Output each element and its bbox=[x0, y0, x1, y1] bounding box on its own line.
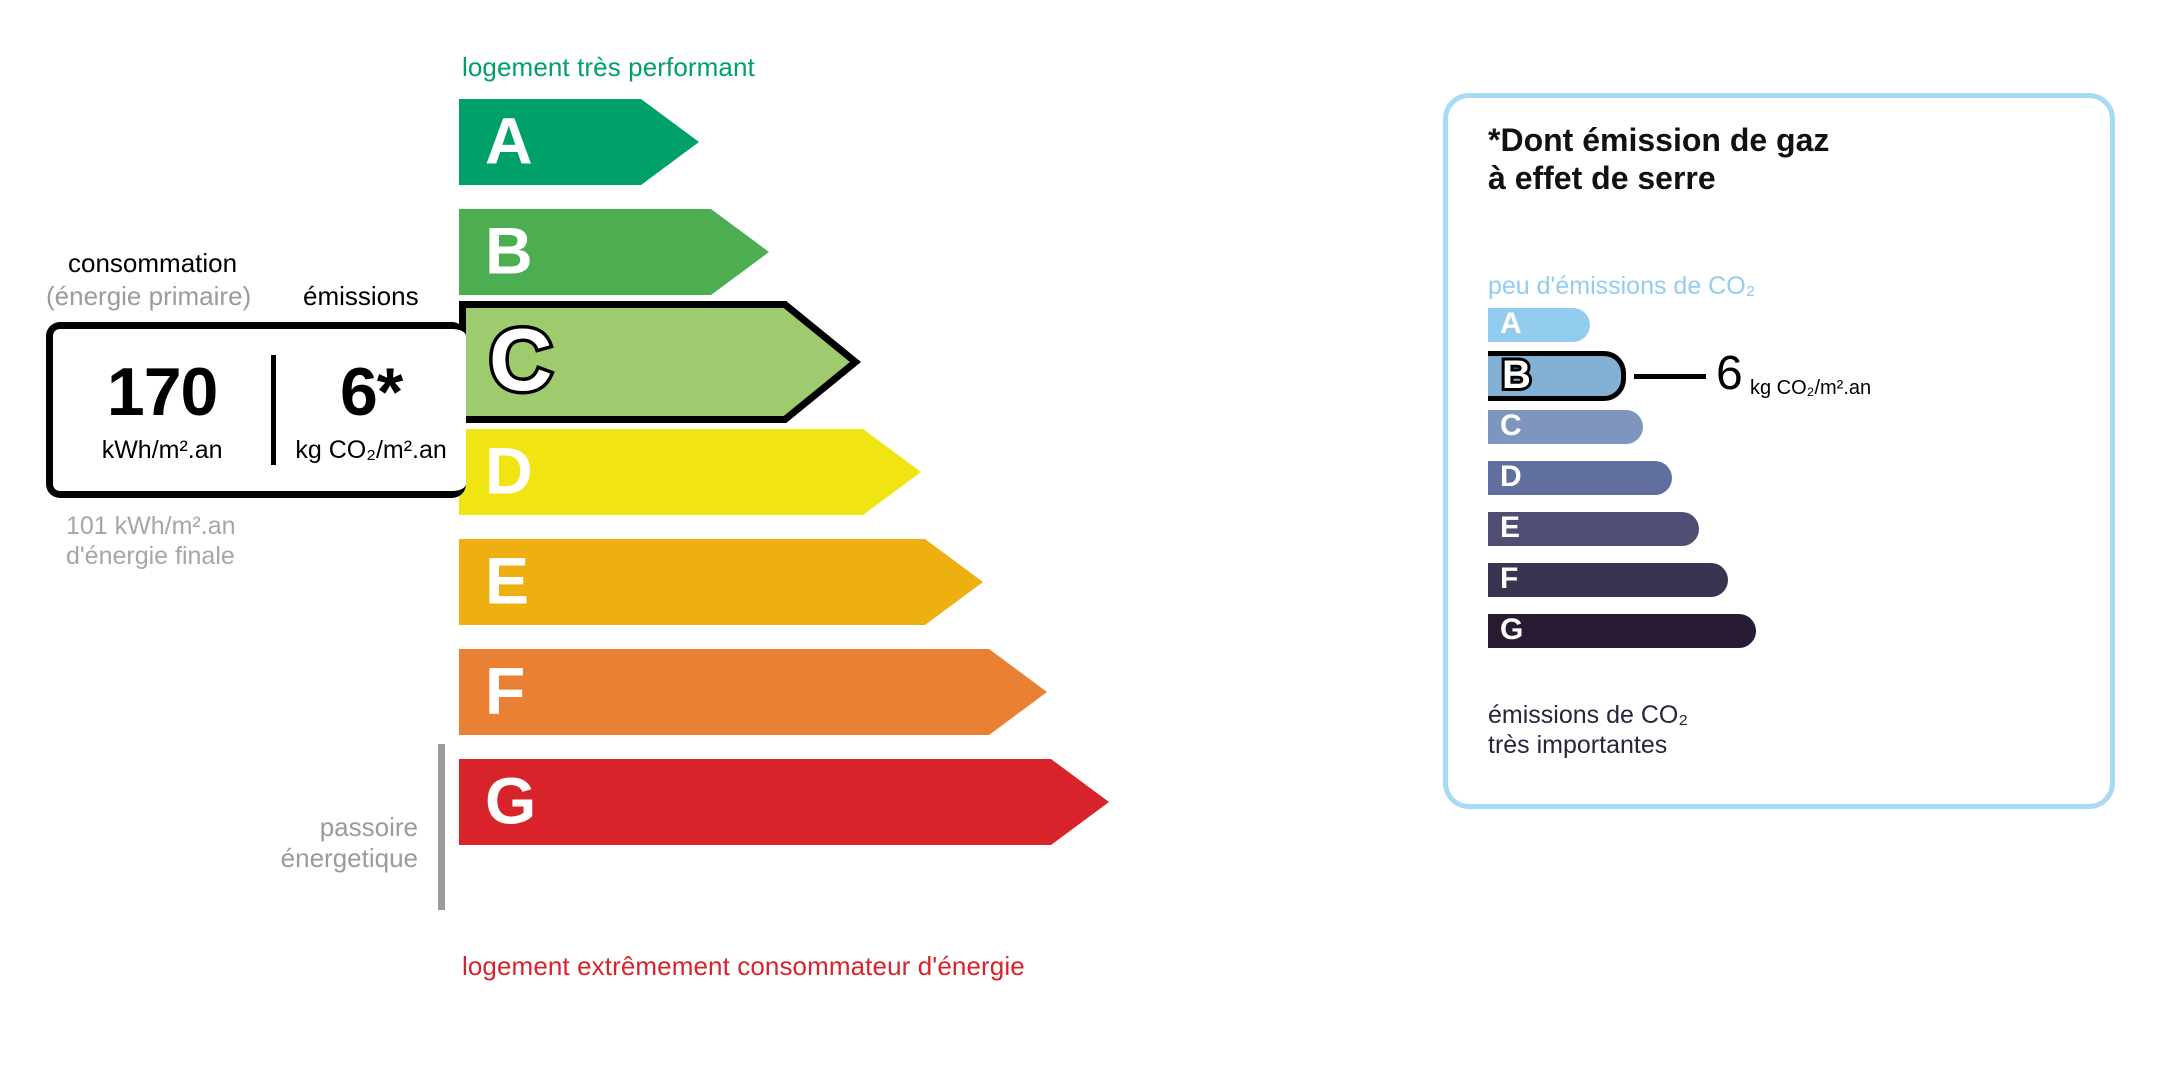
passoire-label: passoire énergetique bbox=[190, 812, 418, 874]
emission-unit: kg CO₂/m².an bbox=[276, 438, 466, 463]
consumption-sublabel: (énergie primaire) bbox=[46, 281, 251, 312]
co2-bar-shape-c bbox=[1488, 410, 1643, 444]
primary-energy-cell: 170 kWh/m².an bbox=[53, 358, 271, 463]
co2-bar-shape-a bbox=[1488, 308, 1590, 342]
primary-energy-unit: kWh/m².an bbox=[53, 438, 271, 463]
co2-bottom-caption: émissions de CO₂ très importantes bbox=[1488, 700, 1688, 760]
consumption-label: consommation bbox=[68, 248, 237, 279]
co2-bar-shape-b bbox=[1488, 351, 1626, 401]
co2-top-caption: peu d'émissions de CO₂ bbox=[1488, 272, 1755, 301]
co2-grade-d: D bbox=[1488, 461, 1672, 495]
energy-arrow-shape-e bbox=[459, 539, 983, 625]
energy-arrow-shape-a bbox=[459, 99, 699, 185]
co2-callout-unit: kg CO₂/m².an bbox=[1750, 378, 1871, 398]
emission-value-cell: 6* kg CO₂/m².an bbox=[276, 358, 466, 463]
energy-grade-g: G bbox=[459, 759, 1109, 845]
co2-grade-g: G bbox=[1488, 614, 1756, 648]
co2-bar-shape-g bbox=[1488, 614, 1756, 648]
energy-grade-c: C bbox=[459, 301, 859, 423]
co2-bar-shape-e bbox=[1488, 512, 1699, 546]
co2-bar-shape-d bbox=[1488, 461, 1672, 495]
energy-grade-b: B bbox=[459, 209, 769, 295]
energy-grade-e: E bbox=[459, 539, 983, 625]
energy-arrow-shape-f bbox=[459, 649, 1047, 735]
energy-bottom-caption: logement extrêmement consommateur d'éner… bbox=[462, 951, 1025, 982]
passoire-bracket bbox=[438, 744, 445, 910]
co2-grade-b: B bbox=[1488, 351, 1626, 401]
co2-panel-title: *Dont émission de gaz à effet de serre bbox=[1488, 122, 1829, 198]
energy-arrow-shape-g bbox=[459, 759, 1109, 845]
energy-grade-f: F bbox=[459, 649, 1047, 735]
co2-grade-a: A bbox=[1488, 308, 1590, 342]
co2-grade-e: E bbox=[1488, 512, 1699, 546]
energy-grade-d: D bbox=[459, 429, 921, 515]
primary-energy-value: 170 bbox=[53, 358, 271, 426]
energy-arrow-shape-c bbox=[459, 301, 859, 423]
co2-callout-leader-line bbox=[1634, 374, 1706, 379]
emission-value: 6* bbox=[276, 358, 466, 426]
co2-callout-value: 6 bbox=[1716, 350, 1743, 398]
final-energy-note: 101 kWh/m².an d'énergie finale bbox=[66, 512, 236, 571]
energy-top-caption: logement très performant bbox=[462, 52, 755, 83]
energy-arrow-shape-d bbox=[459, 429, 921, 515]
energy-arrow-shape-b bbox=[459, 209, 769, 295]
energy-grade-a: A bbox=[459, 99, 699, 185]
co2-bar-shape-f bbox=[1488, 563, 1728, 597]
emissions-label: émissions bbox=[303, 281, 419, 312]
consumption-value-box: 170 kWh/m².an 6* kg CO₂/m².an bbox=[46, 322, 466, 498]
co2-grade-c: C bbox=[1488, 410, 1643, 444]
co2-grade-f: F bbox=[1488, 563, 1728, 597]
dpe-energy-label: logement très performant consommation (é… bbox=[0, 0, 2170, 1079]
